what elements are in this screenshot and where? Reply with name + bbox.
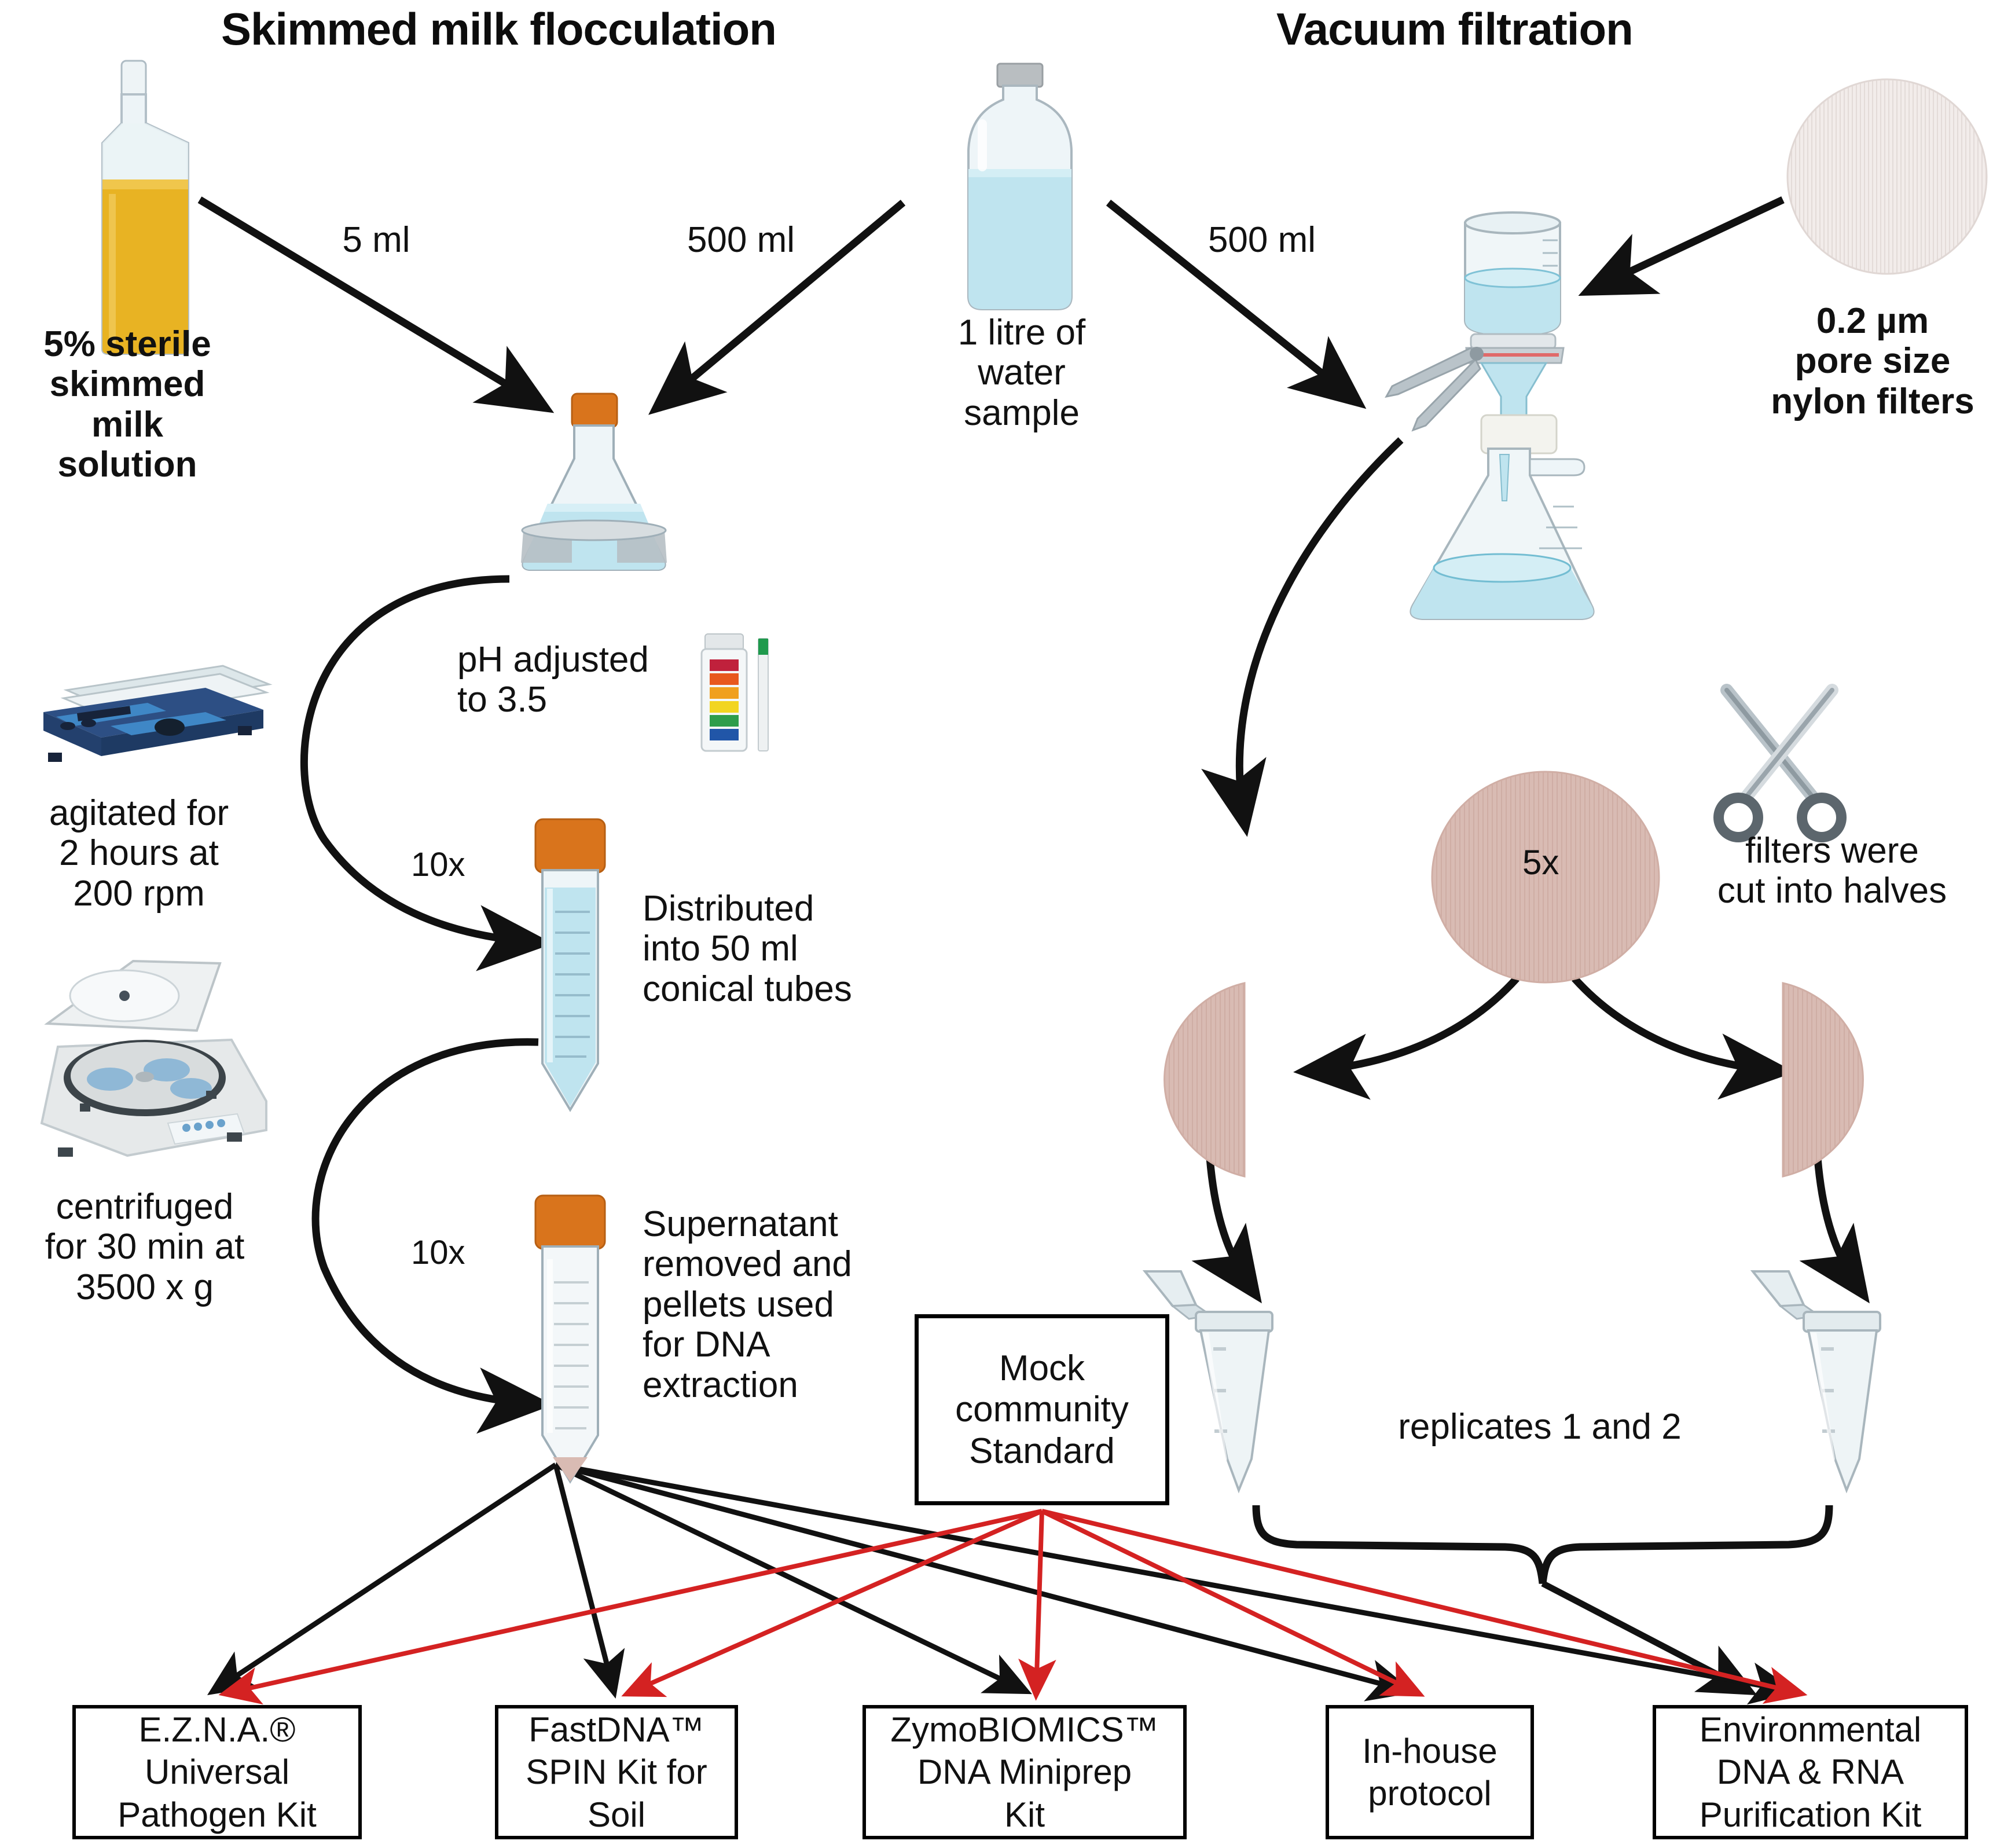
centrifuge-illustration — [23, 949, 284, 1169]
workflow-diagram: Skimmed milk flocculation Vacuum filtrat… — [0, 0, 2004, 1848]
arrow-mock-to-zymobiomics — [1036, 1511, 1042, 1693]
title-skimmed-milk-flocculation: Skimmed milk flocculation — [221, 3, 776, 56]
volume-water-flask-label: 500 ml — [654, 220, 828, 260]
arrow-filter-to-half-left — [1308, 978, 1517, 1071]
kit-line: FastDNA™ — [526, 1708, 707, 1751]
orbital-shaker-illustration — [32, 654, 275, 787]
arrow-nylon-to-funnel — [1592, 200, 1783, 289]
nylon-filter-illustration — [1786, 75, 1988, 278]
kit-line: ZymoBIOMICS™ — [890, 1708, 1158, 1751]
multiplier-filters-5x: 5x — [1522, 842, 1559, 882]
kit-line: Soil — [526, 1794, 707, 1836]
volume-milk-label: 5 ml — [313, 220, 440, 260]
kit-line: SPIN Kit for — [526, 1751, 707, 1793]
kit-line: Environmental — [1700, 1708, 1922, 1751]
multiplier-tubes-pellet: 10x — [411, 1233, 465, 1272]
mock-line-2: community — [955, 1389, 1129, 1430]
arrow-tube1-to-tube2 — [315, 1042, 538, 1404]
kit-line: Universal — [118, 1751, 317, 1793]
mock-line-1: Mock — [955, 1348, 1129, 1389]
kit-line: E.Z.N.A.® — [118, 1708, 317, 1751]
kit-box-eznaa[interactable]: E.Z.N.A.® Universal Pathogen Kit — [72, 1705, 362, 1839]
agitated-label: agitated for 2 hours at 200 rpm — [0, 793, 278, 914]
milk-bottle-illustration — [90, 61, 211, 356]
multiplier-tubes-distribute: 10x — [411, 845, 465, 884]
ph-test-strip-icon — [695, 634, 787, 756]
arrow-flask-to-tube1 — [304, 579, 538, 943]
arrow-mock-to-inhouse — [1042, 1511, 1418, 1693]
water-bottle-label: 1 litre of water sample — [871, 313, 1172, 433]
kit-line: Purification Kit — [1700, 1794, 1922, 1836]
arrow-filter-to-half-right — [1574, 978, 1780, 1071]
eppendorf-tube-left-illustration — [1140, 1268, 1308, 1511]
nylon-filter-label: 0.2 µm pore size nylon filters — [1739, 301, 2004, 421]
kit-box-environmental[interactable]: Environmental DNA & RNA Purification Kit — [1653, 1705, 1968, 1839]
kit-line: protocol — [1362, 1772, 1498, 1814]
centrifuged-label: centrifuged for 30 min at 3500 x g — [0, 1187, 289, 1307]
kit-line: Pathogen Kit — [118, 1794, 317, 1836]
supernatant-label: Supernatant removed and pellets used for… — [643, 1204, 955, 1405]
kit-box-zymobiomics[interactable]: ZymoBIOMICS™ DNA Miniprep Kit — [862, 1705, 1187, 1839]
kit-box-fastdna[interactable]: FastDNA™ SPIN Kit for Soil — [495, 1705, 738, 1839]
arrow-pellet-to-fastdna — [556, 1465, 614, 1691]
water-bottle-illustration — [952, 64, 1085, 318]
ph-adjust-label: pH adjusted to 3.5 — [457, 640, 689, 720]
kit-line: In-house — [1362, 1730, 1498, 1772]
replicates-brace — [1256, 1505, 1829, 1583]
erlenmeyer-flask-illustration — [509, 394, 677, 585]
kit-line: Kit — [890, 1794, 1158, 1836]
conical-tube-1-illustration — [518, 819, 622, 1126]
filter-half-right-illustration — [1777, 978, 1893, 1181]
eppendorf-tube-right-illustration — [1748, 1268, 1916, 1511]
milk-bottle-label: 5% sterile skimmed milk solution — [6, 324, 249, 485]
volume-water-filter-label: 500 ml — [1175, 220, 1349, 260]
conical-tube-2-illustration — [518, 1196, 622, 1497]
mock-community-standard-box[interactable]: Mock community Standard — [915, 1314, 1169, 1505]
mock-line-3: Standard — [955, 1431, 1129, 1472]
vacuum-filtration-illustration — [1357, 200, 1601, 640]
kit-box-inhouse[interactable]: In-house protocol — [1326, 1705, 1534, 1839]
kit-line: DNA Miniprep — [890, 1751, 1158, 1793]
filter-half-left-illustration — [1135, 978, 1250, 1181]
replicates-label: replicates 1 and 2 — [1331, 1407, 1748, 1447]
filters-cut-label: filters were cut into halves — [1670, 831, 1994, 911]
arrow-mock-to-environmental — [1042, 1511, 1800, 1693]
distributed-label: Distributed into 50 ml conical tubes — [643, 889, 967, 1009]
title-vacuum-filtration: Vacuum filtration — [1276, 3, 1633, 56]
kit-line: DNA & RNA — [1700, 1751, 1922, 1793]
